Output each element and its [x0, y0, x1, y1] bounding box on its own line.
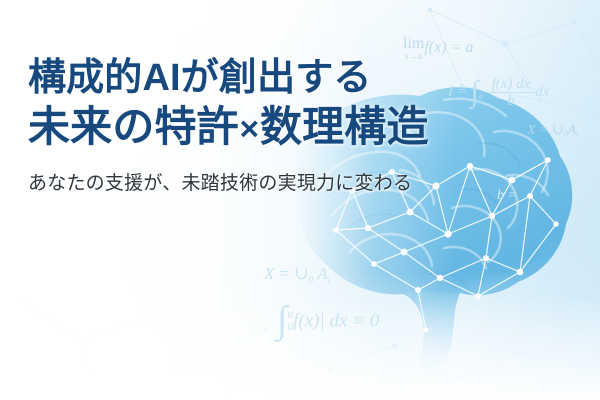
integral-lhs: I = [448, 84, 467, 100]
union-mid-lhs: X = [264, 264, 290, 283]
multiply-symbol: × [239, 111, 260, 148]
union-term: A [568, 123, 577, 138]
union-mid-term: A [317, 264, 327, 283]
hero-banner: lim x→a f(x) = a I = ∫a f(x) dx b dx X =… [0, 0, 600, 400]
union-term-subscript: i [576, 130, 578, 139]
union-mid-operator: ∪ [294, 264, 308, 283]
integral-tail: dx [535, 84, 549, 100]
union-operator: ∪ [552, 123, 564, 138]
union-formula-top: X = ∪0Ai [527, 122, 578, 139]
integral-sign: ∫ [471, 75, 479, 108]
title-line-2-right: 数理構造 [260, 103, 429, 150]
integral-fraction-formula: I = ∫a f(x) dx b dx [448, 76, 549, 109]
integral-lower-bound: a [479, 92, 483, 101]
title-line-2-left: 未来の特許 [28, 103, 239, 150]
subtitle: あなたの支援が、未踏技術の実現力に変わる [28, 168, 429, 195]
union-mid-subscript: 0 [309, 275, 314, 285]
b-definition-formula: b = [497, 188, 517, 204]
union-mid-term-subscript: i [328, 275, 331, 285]
fraction-denominator: b [489, 93, 534, 109]
limit-operator: lim [403, 35, 424, 52]
identity-body: f(x)| dx ≡ 0 [293, 310, 379, 331]
limit-body: f(x) = a [424, 39, 473, 56]
integral-identity-formula: ∫ n 0 f(x)| dx ≡ 0 [277, 310, 379, 334]
title-line-2: 未来の特許×数理構造 [28, 102, 429, 152]
title-line-1: 構成的AIが創出する [28, 58, 429, 98]
union-formula-middle: X = ∪0 Ai [264, 264, 330, 285]
identity-integral-sign: ∫ [277, 299, 287, 341]
union-lhs: X = [527, 123, 549, 138]
integral-fraction: f(x) dx b [489, 76, 534, 109]
headline-block: 構成的AIが創出する 未来の特許×数理構造 あなたの支援が、未踏技術の実現力に変… [28, 58, 429, 195]
fraction-numerator: f(x) dx [489, 76, 534, 93]
